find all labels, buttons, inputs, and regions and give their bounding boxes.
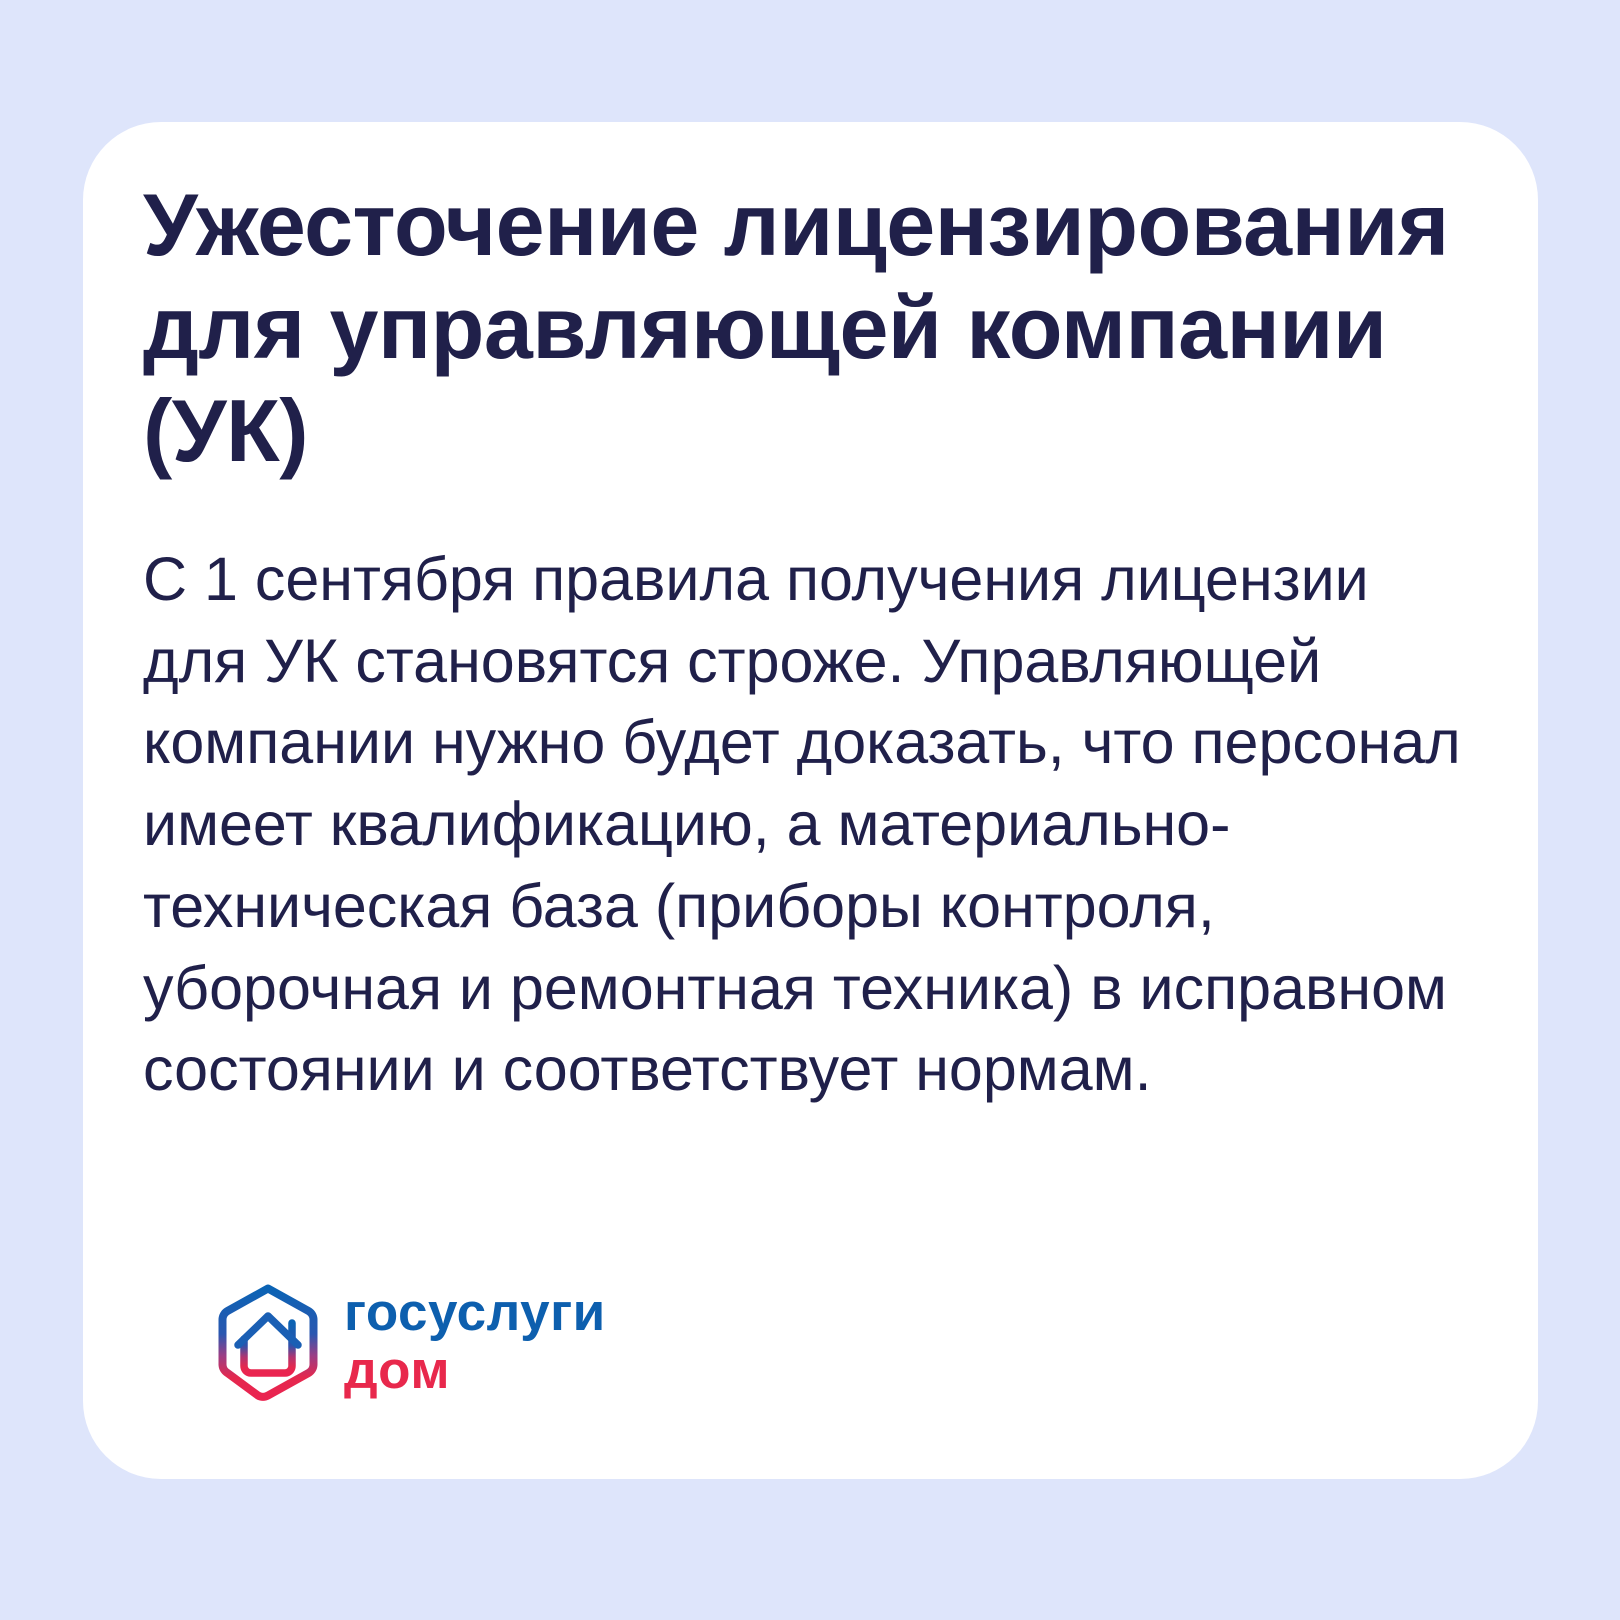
house-in-hexagon-icon [214,1283,322,1401]
body-text: С 1 сентября правила получения лицензии … [143,539,1478,1111]
brand-wordmark: госуслуги дом [344,1286,606,1398]
brand-word-gosuslugi: госуслуги [344,1286,606,1340]
brand-logo[interactable]: госуслуги дом [214,1283,606,1401]
brand-word-dom: дом [344,1344,606,1398]
info-card: Ужесточение лицензирования для управляющ… [83,122,1538,1479]
page-title: Ужесточение лицензирования для управляющ… [143,174,1478,483]
poster-canvas: Ужесточение лицензирования для управляющ… [0,0,1620,1620]
